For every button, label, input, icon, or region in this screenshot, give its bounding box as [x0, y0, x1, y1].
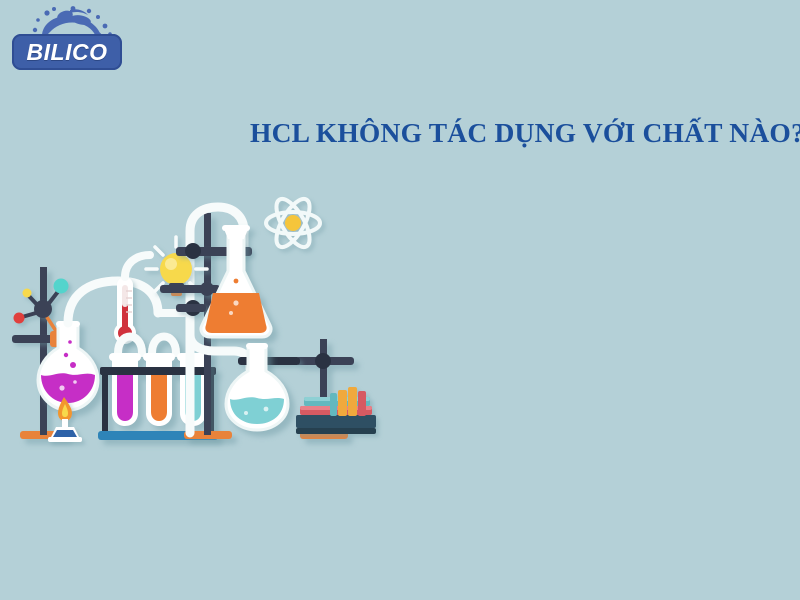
page-title: HCL KHÔNG TÁC DỤNG VỚI CHẤT NÀO?: [250, 117, 795, 149]
test-tube-orange: [143, 353, 175, 426]
boiling-flask-teal: [226, 343, 288, 430]
atom-symbol: [266, 194, 320, 252]
test-tube-purple: [109, 353, 141, 426]
chemistry-lab-illustration: [0, 185, 400, 460]
bilico-logo[interactable]: BILICO: [8, 6, 126, 78]
logo-plate: BILICO: [12, 34, 122, 70]
glass-tube-left: [68, 281, 158, 323]
book-stack: [296, 387, 376, 434]
erlenmeyer-flask-orange: [201, 225, 271, 337]
logo-wordmark: BILICO: [12, 34, 122, 70]
page-canvas: BILICO HCL KHÔNG TÁC DỤNG VỚI CHẤT NÀO?: [0, 0, 800, 600]
